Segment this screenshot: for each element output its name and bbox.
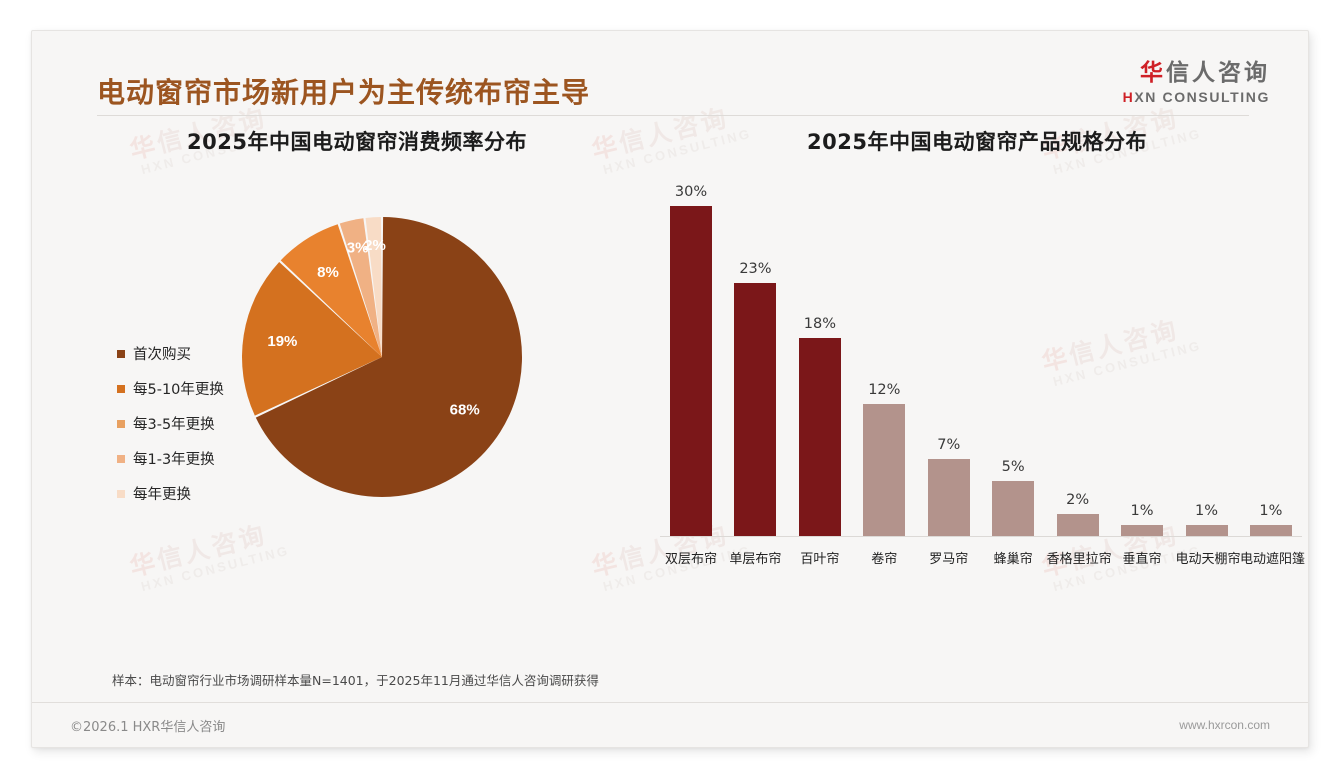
bar-rect[interactable] xyxy=(863,404,905,536)
bar-value-label: 2% xyxy=(1066,492,1089,508)
pie-slice-value: 2% xyxy=(364,237,386,254)
legend-swatch-icon xyxy=(117,420,125,428)
bar-column[interactable]: 18% xyxy=(789,184,851,536)
copyright-text: ©2026.1 HXR华信人咨询 xyxy=(70,716,225,735)
website-url[interactable]: www.hxrcon.com xyxy=(1179,718,1270,732)
bar-value-label: 23% xyxy=(739,261,771,277)
bar-rect[interactable] xyxy=(670,206,712,536)
x-axis-tick-label: 香格里拉帘 xyxy=(1047,548,1109,567)
legend-item[interactable]: 首次购买 xyxy=(117,336,224,371)
legend-swatch-icon xyxy=(117,385,125,393)
legend-item[interactable]: 每3-5年更换 xyxy=(117,406,224,441)
x-axis-tick-label: 垂直帘 xyxy=(1111,548,1173,567)
bar-column[interactable]: 1% xyxy=(1240,184,1302,536)
x-axis-tick-label: 百叶帘 xyxy=(789,548,851,567)
bar-rect[interactable] xyxy=(734,283,776,536)
bar-rect[interactable] xyxy=(799,338,841,536)
legend-swatch-icon xyxy=(117,350,125,358)
company-logo: 华信人咨询 HXN CONSULTING xyxy=(1123,61,1270,105)
legend-item[interactable]: 每5-10年更换 xyxy=(117,371,224,406)
pie-slice-value: 19% xyxy=(267,333,297,350)
bar-value-label: 7% xyxy=(937,437,960,453)
bar-column[interactable]: 2% xyxy=(1047,184,1109,536)
legend-label: 每年更换 xyxy=(133,483,191,504)
bar-value-label: 5% xyxy=(1002,459,1025,475)
pie-legend: 首次购买 每5-10年更换 每3-5年更换 每1-3年更换 xyxy=(117,336,224,511)
slide-footer: ©2026.1 HXR华信人咨询 www.hxrcon.com xyxy=(32,703,1308,747)
legend-label: 首次购买 xyxy=(133,343,191,364)
pie-chart-title: 2025年中国电动窗帘消费频率分布 xyxy=(77,126,637,156)
pie-chart-panel: 2025年中国电动窗帘消费频率分布 首次购买 每5-10年更换 每3-5年更换 xyxy=(77,126,637,614)
x-axis-tick-label: 卷帘 xyxy=(853,548,915,567)
bar-rect[interactable] xyxy=(1250,525,1292,536)
bar-rect[interactable] xyxy=(1121,525,1163,536)
bar-column[interactable]: 23% xyxy=(724,184,786,536)
legend-label: 每3-5年更换 xyxy=(133,413,215,434)
bar-column[interactable]: 30% xyxy=(660,184,722,536)
x-axis-tick-label: 蜂巢帘 xyxy=(982,548,1044,567)
bar-rect[interactable] xyxy=(1057,514,1099,536)
pie-chart-body: 首次购买 每5-10年更换 每3-5年更换 每1-3年更换 xyxy=(77,184,637,614)
bar-chart-body: 30%23%18%12%7%5%2%1%1%1% 双层布帘单层布帘百叶帘卷帘罗马… xyxy=(652,176,1302,606)
pie-slice-value: 68% xyxy=(450,402,480,419)
bar-chart-panel: 2025年中国电动窗帘产品规格分布 30%23%18%12%7%5%2%1%1%… xyxy=(652,126,1302,606)
pie-slice-value: 8% xyxy=(317,264,339,281)
logo-en-accent: H xyxy=(1123,89,1135,105)
x-axis-tick-label: 电动天棚帘 xyxy=(1176,548,1238,567)
logo-chinese: 华信人咨询 xyxy=(1123,61,1270,86)
bar-column[interactable]: 1% xyxy=(1176,184,1238,536)
x-axis-tick-label: 电动遮阳篷 xyxy=(1240,548,1302,567)
title-divider xyxy=(97,115,1249,116)
bar-value-label: 18% xyxy=(804,316,836,332)
bar-value-label: 1% xyxy=(1131,503,1154,519)
bar-column[interactable]: 1% xyxy=(1111,184,1173,536)
x-axis-labels: 双层布帘单层布帘百叶帘卷帘罗马帘蜂巢帘香格里拉帘垂直帘电动天棚帘电动遮阳篷 xyxy=(660,548,1302,567)
bar-value-label: 12% xyxy=(868,382,900,398)
bar-value-label: 1% xyxy=(1259,503,1282,519)
x-axis-line xyxy=(660,536,1302,537)
x-axis-tick-label: 双层布帘 xyxy=(660,548,722,567)
x-axis-tick-label: 单层布帘 xyxy=(724,548,786,567)
pie-chart-svg: 68%19%8%3%2% xyxy=(237,212,527,502)
legend-item[interactable]: 每1-3年更换 xyxy=(117,441,224,476)
charts-region: 2025年中国电动窗帘消费频率分布 首次购买 每5-10年更换 每3-5年更换 xyxy=(32,126,1308,671)
bar-rect[interactable] xyxy=(928,459,970,536)
logo-en-rest: XN CONSULTING xyxy=(1134,89,1270,105)
pie-slice-group[interactable] xyxy=(242,217,522,497)
bar-plot: 30%23%18%12%7%5%2%1%1%1% xyxy=(660,184,1302,536)
bar-value-label: 1% xyxy=(1195,503,1218,519)
slide-header: 电动窗帘市场新用户为主传统布帘主导 华信人咨询 HXN CONSULTING xyxy=(32,31,1308,119)
logo-english: HXN CONSULTING xyxy=(1123,89,1270,105)
bar-rect[interactable] xyxy=(992,481,1034,536)
logo-cn-accent: 华 xyxy=(1140,60,1166,86)
legend-swatch-icon xyxy=(117,490,125,498)
x-axis-tick-label: 罗马帘 xyxy=(918,548,980,567)
legend-label: 每5-10年更换 xyxy=(133,378,224,399)
bar-rect[interactable] xyxy=(1186,525,1228,536)
legend-swatch-icon xyxy=(117,455,125,463)
page-title: 电动窗帘市场新用户为主传统布帘主导 xyxy=(97,71,590,111)
legend-item[interactable]: 每年更换 xyxy=(117,476,224,511)
slide-card: 华信人咨询 HXN CONSULTING 华信人咨询 HXN CONSULTIN… xyxy=(31,30,1309,748)
bar-column[interactable]: 5% xyxy=(982,184,1044,536)
bar-chart-title: 2025年中国电动窗帘产品规格分布 xyxy=(652,126,1302,156)
bar-column[interactable]: 7% xyxy=(918,184,980,536)
source-note: 样本：电动窗帘行业市场调研样本量N=1401，于2025年11月通过华信人咨询调… xyxy=(112,670,599,689)
bar-column[interactable]: 12% xyxy=(853,184,915,536)
legend-label: 每1-3年更换 xyxy=(133,448,215,469)
logo-cn-rest: 信人咨询 xyxy=(1166,60,1270,86)
bar-value-label: 30% xyxy=(675,184,707,200)
